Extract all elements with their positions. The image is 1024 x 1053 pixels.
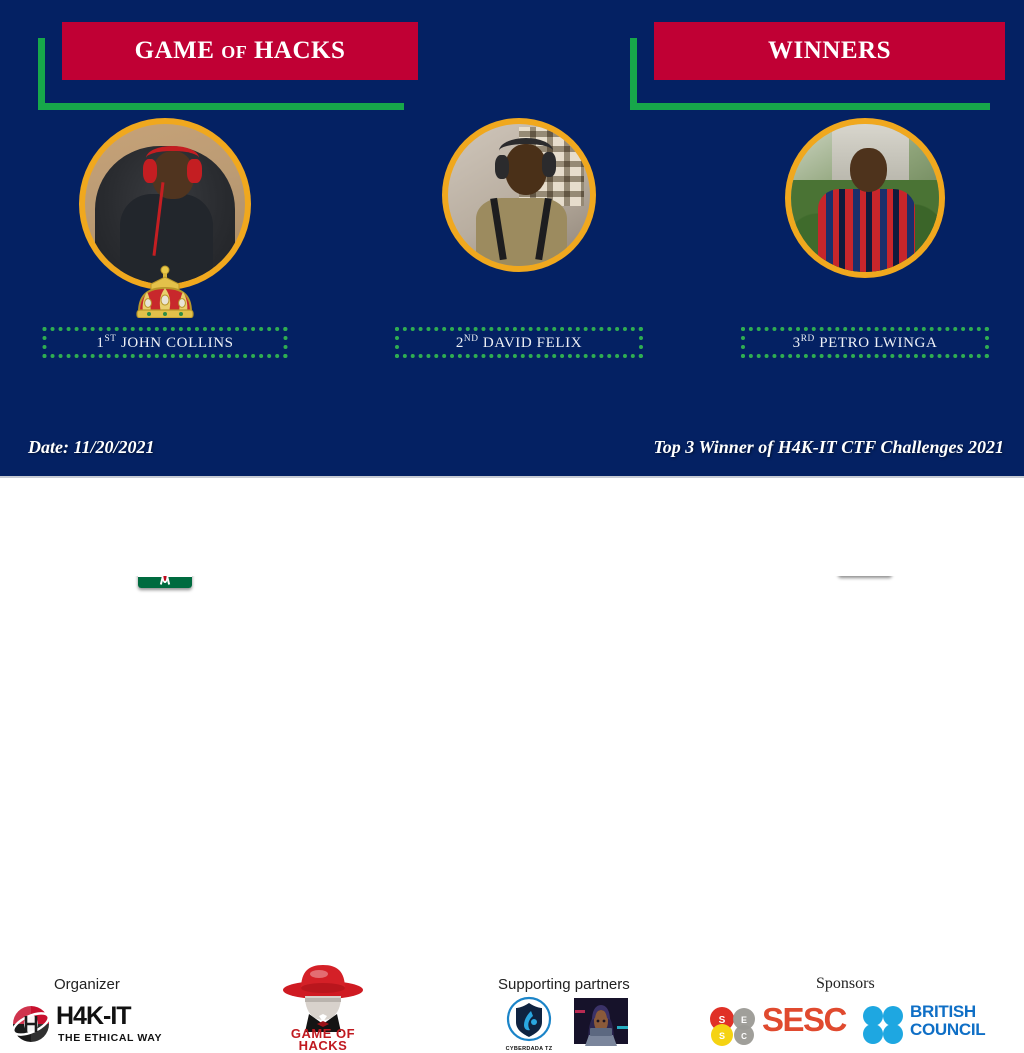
event-subtitle: Top 3 Winner of H4K-IT CTF Challenges 20… — [653, 437, 1004, 458]
winner-column-second: 2ND DAVID FELIX — [354, 118, 684, 312]
photo-image — [85, 124, 245, 284]
winners-banner: WINNERS — [630, 22, 1005, 110]
sesc-wordmark: SESC — [762, 1001, 846, 1039]
crown-icon — [129, 264, 201, 318]
photo-image — [448, 124, 590, 266]
svg-text:S: S — [719, 1015, 726, 1026]
banner-title-right: WINNERS — [768, 37, 891, 65]
winners-slide: GAME OF HACKS WINNERS — [0, 0, 1024, 576]
sponsors-label: Sponsors — [816, 975, 875, 993]
winner-label-first: 1ST JOHN COLLINS — [96, 334, 233, 352]
winner-column-first: 1ST JOHN COLLINS — [0, 118, 330, 330]
h4k-it-mark-icon — [8, 1004, 54, 1044]
svg-text:S: S — [719, 1031, 725, 1041]
cyberdada-tz-wordmark: CYBERDADA TZ — [500, 1046, 558, 1052]
game-of-hacks-wordmark: GAME OF HACKS — [275, 1028, 371, 1052]
winner-nameplate-first: 1ST JOHN COLLINS — [43, 327, 288, 358]
winner-photo-david-felix — [442, 118, 596, 272]
sesc-logo: S E S C SESC — [706, 1002, 856, 1048]
winner-label-second: 2ND DAVID FELIX — [456, 334, 582, 352]
british-council-logo: BRITISH COUNCIL — [862, 1002, 1022, 1048]
banner-red-box: GAME OF HACKS — [62, 22, 418, 80]
h4k-it-logo: H4K-IT THE ETHICAL WAY — [8, 1002, 168, 1050]
shield-icon — [500, 996, 558, 1044]
svg-text:C: C — [741, 1032, 747, 1041]
hooded-hacker-icon — [572, 996, 630, 1046]
h4k-it-tagline: THE ETHICAL WAY — [58, 1032, 162, 1044]
british-council-dots-icon — [862, 1006, 904, 1044]
detective-hat-icon — [275, 962, 371, 1032]
winner-column-third: 3RD PETRO LWINGA — [700, 118, 1024, 318]
banner-red-box: WINNERS — [654, 22, 1005, 80]
footer-bar: Organizer Supporting partners Sponsors H… — [0, 478, 1024, 576]
cyberdada-tz-logo: CYBERDADA TZ — [500, 996, 558, 1052]
event-date: Date: 11/20/2021 — [28, 437, 155, 458]
supporting-partners-label: Supporting partners — [498, 976, 630, 993]
banner-title-left: GAME OF HACKS — [135, 37, 346, 65]
game-of-hacks-logo: GAME OF HACKS — [275, 962, 371, 1052]
svg-text:E: E — [741, 1015, 747, 1025]
game-of-hacks-banner: GAME OF HACKS — [38, 22, 418, 110]
h4k-it-wordmark: H4K-IT — [56, 1002, 131, 1031]
hacker-girl-logo — [572, 996, 630, 1052]
winner-label-third: 3RD PETRO LWINGA — [793, 334, 938, 352]
photo-image — [791, 124, 939, 272]
winner-photo-petro-lwinga — [785, 118, 945, 278]
british-council-wordmark: BRITISH COUNCIL — [910, 1003, 985, 1039]
winner-nameplate-second: 2ND DAVID FELIX — [395, 327, 643, 358]
organizer-label: Organizer — [54, 976, 120, 993]
winner-nameplate-third: 3RD PETRO LWINGA — [741, 327, 989, 358]
sesc-dots-icon: S E S C — [706, 1006, 762, 1046]
